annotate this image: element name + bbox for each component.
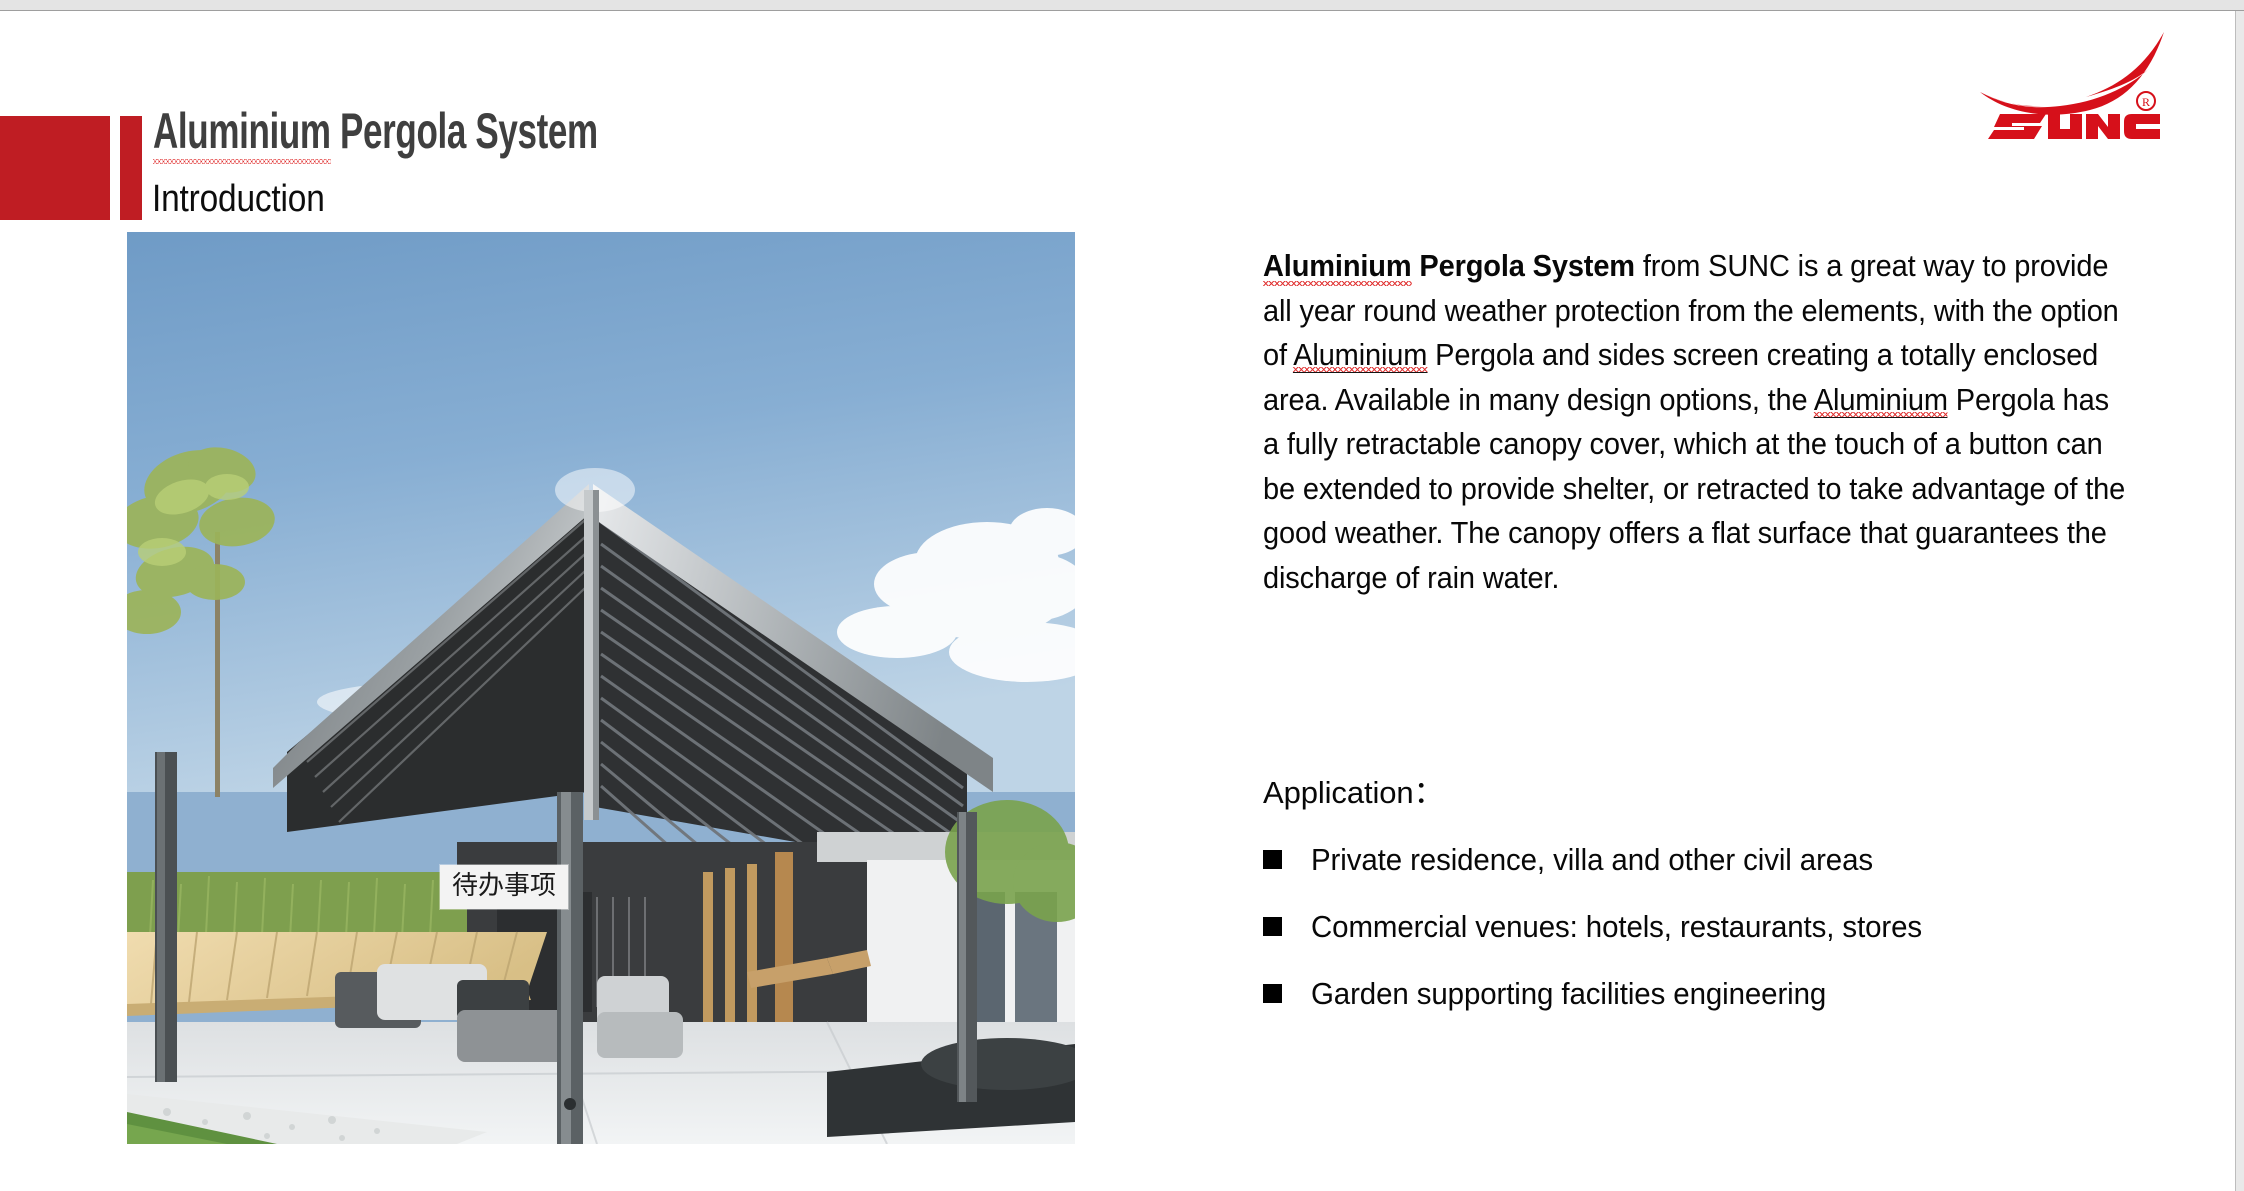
window-right-chrome[interactable] — [2235, 11, 2244, 1191]
presentation-slide: Aluminium Pergola System Introduction — [0, 0, 2244, 1191]
bullet-square-icon — [1263, 850, 1282, 869]
list-item-label: Commercial venues: hotels, restaurants, … — [1311, 907, 1922, 947]
description-lead-misspelled: Aluminium — [1263, 248, 1411, 286]
page-title: Aluminium Pergola System — [153, 106, 598, 156]
description-lead-bold: Aluminium Pergola System — [1263, 248, 1635, 286]
slide-canvas: Aluminium Pergola System Introduction — [0, 12, 2234, 1191]
sunc-logo: R — [1968, 28, 2168, 140]
list-item: Garden supporting facilities engineering — [1263, 974, 2163, 1041]
title-accent-block-large — [0, 116, 110, 220]
bullet-square-icon — [1263, 984, 1282, 1003]
page-subtitle: Introduction — [152, 178, 325, 221]
photo-callout-label: 待办事项 — [440, 865, 568, 909]
application-list: Private residence, villa and other civil… — [1263, 840, 2163, 1041]
logo-wordmark — [1988, 114, 2160, 139]
title-accent-block-small — [120, 116, 142, 220]
page-title-misspelled-word: Aluminium — [153, 103, 331, 164]
description-column: Aluminium Pergola System from SUNC is a … — [1263, 244, 2133, 600]
list-item-label: Garden supporting facilities engineering — [1311, 974, 1826, 1014]
window-top-chrome — [0, 0, 2244, 11]
page-title-rest: Pergola System — [331, 103, 598, 159]
list-item: Commercial venues: hotels, restaurants, … — [1263, 907, 2163, 974]
bullet-square-icon — [1263, 917, 1282, 936]
list-item-label: Private residence, villa and other civil… — [1311, 840, 1873, 880]
description-misspelled-2: Aluminium — [1293, 337, 1427, 373]
aluminium-pergola-photo: 待办事项 — [127, 232, 1075, 1144]
description-misspelled-3: Aluminium — [1814, 382, 1948, 418]
application-heading: Application： — [1263, 777, 1444, 808]
logo-registered-letter: R — [2142, 95, 2150, 109]
list-item: Private residence, villa and other civil… — [1263, 840, 2163, 907]
description-lead-rest: Pergola System — [1411, 248, 1634, 283]
description-paragraph: Aluminium Pergola System from SUNC is a … — [1263, 244, 2133, 600]
